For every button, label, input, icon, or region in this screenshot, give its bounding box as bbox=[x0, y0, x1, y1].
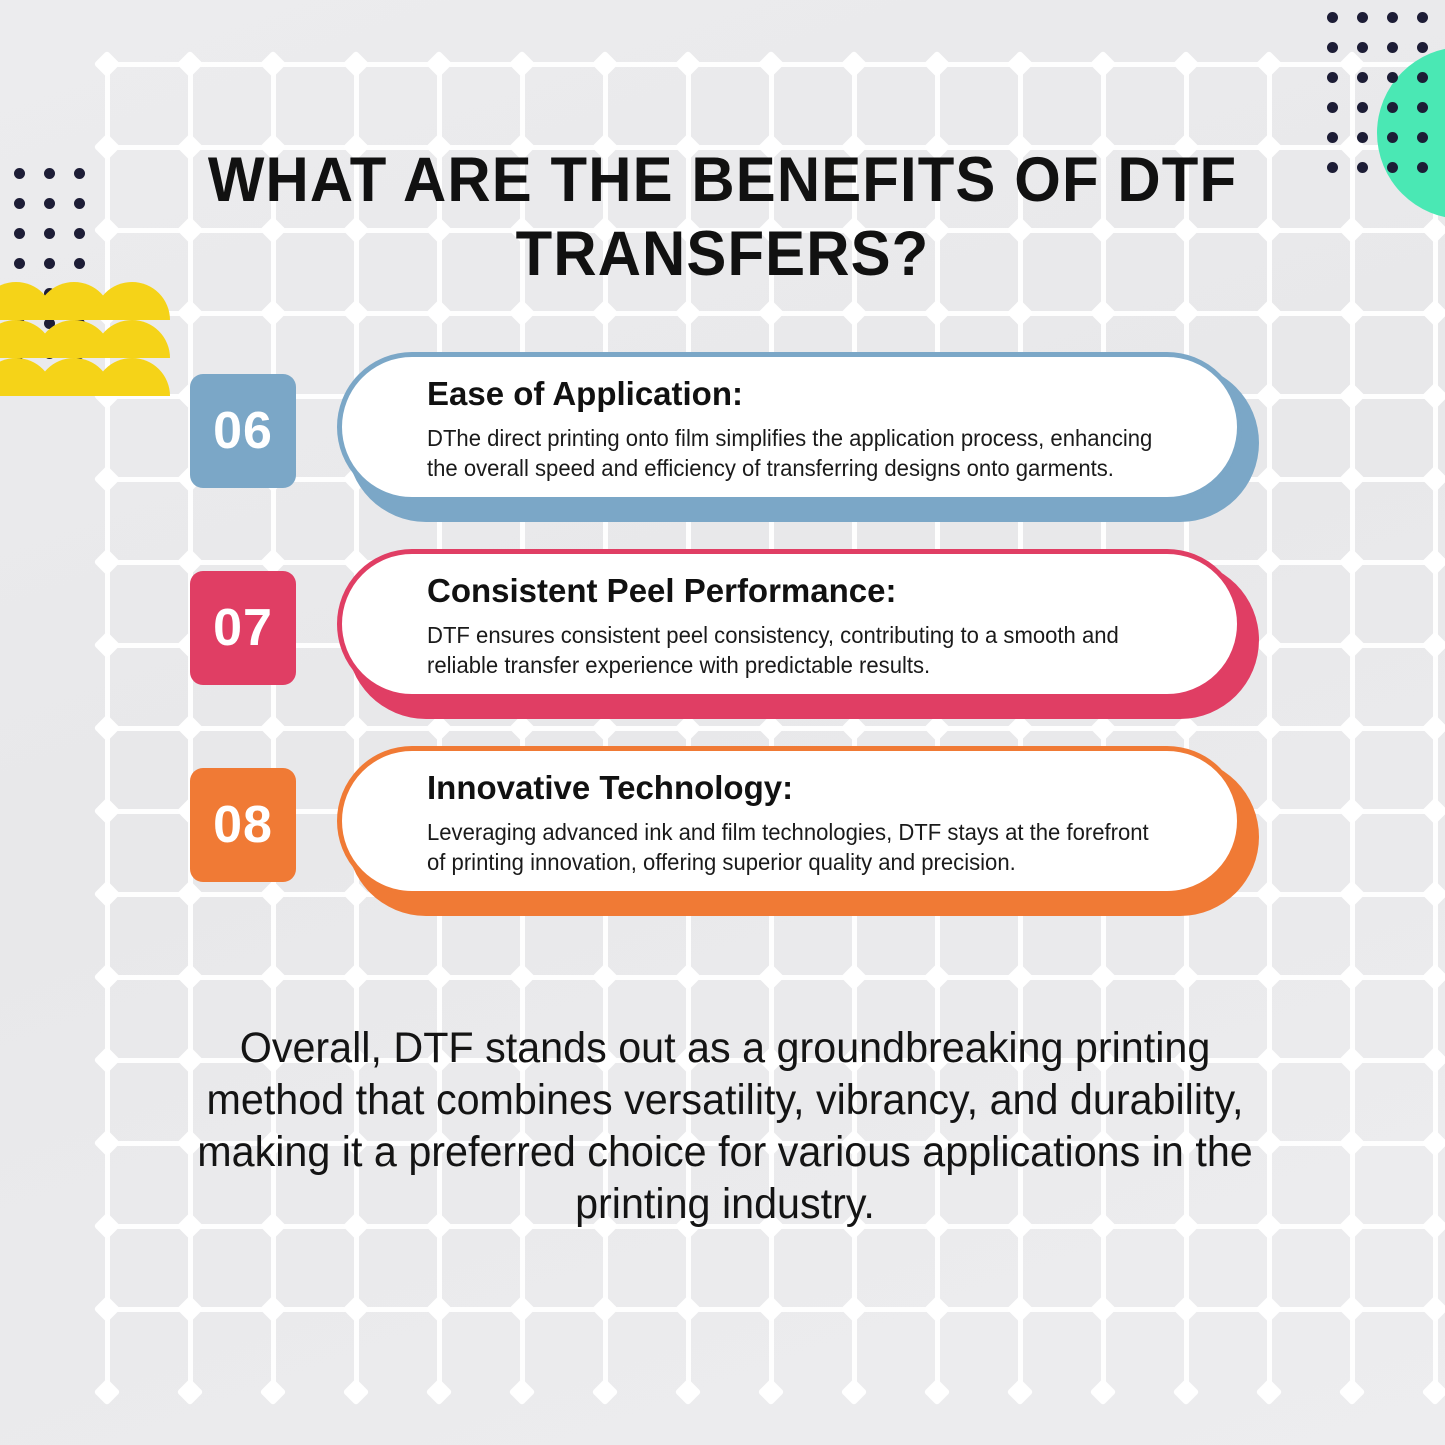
card-number-badge: 07 bbox=[190, 571, 296, 685]
benefit-card: 07Consistent Peel Performance:DTF ensure… bbox=[190, 549, 1260, 709]
card-number-label: 06 bbox=[213, 401, 273, 461]
decorative-dot bbox=[1327, 162, 1338, 173]
grid-intersection-diamond bbox=[758, 964, 785, 991]
yellow-semicircle-decoration bbox=[0, 282, 153, 392]
grid-intersection-diamond bbox=[94, 632, 121, 659]
grid-intersection-diamond bbox=[592, 51, 619, 78]
card-body-text: DTF ensures consistent peel consistency,… bbox=[427, 620, 1172, 680]
grid-intersection-diamond bbox=[1422, 217, 1445, 244]
grid-intersection-diamond bbox=[94, 964, 121, 991]
grid-intersection-diamond bbox=[1339, 217, 1366, 244]
grid-intersection-diamond bbox=[1339, 1379, 1366, 1406]
grid-intersection-diamond bbox=[1339, 632, 1366, 659]
card-number-badge: 08 bbox=[190, 768, 296, 882]
grid-intersection-diamond bbox=[94, 1296, 121, 1323]
decorative-dot bbox=[14, 228, 25, 239]
grid-intersection-diamond bbox=[1422, 300, 1445, 327]
card-heading: Ease of Application: bbox=[427, 374, 1203, 414]
grid-intersection-diamond bbox=[94, 1379, 121, 1406]
infographic-poster: WHAT ARE THE BENEFITS OF DTF TRANSFERS? … bbox=[0, 0, 1445, 1445]
grid-intersection-diamond bbox=[343, 1296, 370, 1323]
grid-intersection-diamond bbox=[1339, 964, 1366, 991]
grid-intersection-diamond bbox=[509, 1379, 536, 1406]
decorative-dot bbox=[1357, 12, 1368, 23]
benefit-card: 08Innovative Technology:Leveraging advan… bbox=[190, 746, 1260, 906]
grid-intersection-diamond bbox=[260, 715, 287, 742]
grid-intersection-diamond bbox=[1256, 300, 1283, 327]
grid-intersection-diamond bbox=[1173, 1379, 1200, 1406]
grid-intersection-diamond bbox=[1422, 1379, 1445, 1406]
grid-intersection-diamond bbox=[1256, 1379, 1283, 1406]
grid-intersection-diamond bbox=[1339, 1047, 1366, 1074]
card-heading: Innovative Technology: bbox=[427, 768, 1203, 808]
grid-intersection-diamond bbox=[592, 1379, 619, 1406]
grid-intersection-diamond bbox=[260, 1296, 287, 1323]
grid-intersection-diamond bbox=[509, 1296, 536, 1323]
card-body-text: Leveraging advanced ink and film technol… bbox=[427, 817, 1172, 877]
grid-intersection-diamond bbox=[94, 881, 121, 908]
grid-intersection-diamond bbox=[1007, 300, 1034, 327]
decorative-dot bbox=[1387, 72, 1398, 83]
decorative-dot bbox=[14, 258, 25, 269]
grid-intersection-diamond bbox=[1256, 51, 1283, 78]
grid-intersection-diamond bbox=[924, 51, 951, 78]
grid-intersection-diamond bbox=[1090, 964, 1117, 991]
yellow-semicircle bbox=[94, 358, 170, 396]
grid-intersection-diamond bbox=[509, 300, 536, 327]
decorative-dot bbox=[74, 258, 85, 269]
grid-intersection-diamond bbox=[177, 715, 204, 742]
grid-intersection-diamond bbox=[426, 1379, 453, 1406]
grid-intersection-diamond bbox=[94, 1213, 121, 1240]
dot-grid-top-right bbox=[1327, 12, 1445, 192]
grid-intersection-diamond bbox=[94, 798, 121, 825]
decorative-dot bbox=[1417, 162, 1428, 173]
decorative-dot bbox=[1327, 12, 1338, 23]
grid-intersection-diamond bbox=[343, 964, 370, 991]
grid-intersection-diamond bbox=[1090, 300, 1117, 327]
grid-intersection-diamond bbox=[1422, 466, 1445, 493]
grid-intersection-diamond bbox=[1339, 1213, 1366, 1240]
grid-intersection-diamond bbox=[1422, 1296, 1445, 1323]
grid-intersection-diamond bbox=[1339, 1296, 1366, 1323]
decorative-dot bbox=[1417, 42, 1428, 53]
grid-intersection-diamond bbox=[1422, 798, 1445, 825]
grid-intersection-diamond bbox=[1090, 51, 1117, 78]
grid-intersection-diamond bbox=[1090, 1296, 1117, 1323]
grid-intersection-diamond bbox=[1090, 1379, 1117, 1406]
grid-intersection-diamond bbox=[924, 300, 951, 327]
grid-intersection-diamond bbox=[841, 51, 868, 78]
grid-intersection-diamond bbox=[1339, 300, 1366, 327]
decorative-dot bbox=[1357, 72, 1368, 83]
grid-intersection-diamond bbox=[94, 1047, 121, 1074]
grid-intersection-diamond bbox=[1422, 632, 1445, 659]
decorative-dot bbox=[1387, 132, 1398, 143]
grid-intersection-diamond bbox=[343, 51, 370, 78]
decorative-dot bbox=[1387, 102, 1398, 113]
grid-intersection-diamond bbox=[841, 1379, 868, 1406]
grid-intersection-diamond bbox=[1422, 1213, 1445, 1240]
grid-intersection-diamond bbox=[343, 715, 370, 742]
decorative-dot bbox=[74, 228, 85, 239]
grid-intersection-diamond bbox=[1173, 1296, 1200, 1323]
card-content: Ease of Application:DThe direct printing… bbox=[427, 374, 1203, 483]
grid-intersection-diamond bbox=[1422, 1047, 1445, 1074]
grid-intersection-diamond bbox=[1422, 964, 1445, 991]
grid-intersection-diamond bbox=[94, 715, 121, 742]
grid-intersection-diamond bbox=[426, 1296, 453, 1323]
grid-intersection-diamond bbox=[1256, 1213, 1283, 1240]
grid-intersection-diamond bbox=[260, 1379, 287, 1406]
grid-intersection-diamond bbox=[426, 51, 453, 78]
grid-intersection-diamond bbox=[94, 466, 121, 493]
grid-intersection-diamond bbox=[94, 1130, 121, 1157]
grid-intersection-diamond bbox=[426, 964, 453, 991]
decorative-dot bbox=[44, 168, 55, 179]
grid-intersection-diamond bbox=[1339, 715, 1366, 742]
card-content: Consistent Peel Performance:DTF ensures … bbox=[427, 571, 1203, 680]
decorative-dot bbox=[1357, 162, 1368, 173]
grid-intersection-diamond bbox=[1422, 881, 1445, 908]
grid-intersection-diamond bbox=[758, 1296, 785, 1323]
grid-intersection-diamond bbox=[1173, 300, 1200, 327]
grid-intersection-diamond bbox=[758, 51, 785, 78]
grid-intersection-diamond bbox=[1339, 466, 1366, 493]
grid-intersection-diamond bbox=[592, 300, 619, 327]
summary-paragraph: Overall, DTF stands out as a groundbreak… bbox=[197, 1022, 1253, 1230]
grid-intersection-diamond bbox=[1007, 1296, 1034, 1323]
page-title: WHAT ARE THE BENEFITS OF DTF TRANSFERS? bbox=[179, 143, 1267, 291]
grid-intersection-diamond bbox=[1007, 1379, 1034, 1406]
grid-intersection-diamond bbox=[924, 964, 951, 991]
grid-intersection-diamond bbox=[1422, 715, 1445, 742]
grid-intersection-diamond bbox=[924, 1296, 951, 1323]
grid-intersection-diamond bbox=[1256, 715, 1283, 742]
grid-intersection-diamond bbox=[1007, 964, 1034, 991]
grid-intersection-diamond bbox=[1256, 1130, 1283, 1157]
grid-intersection-diamond bbox=[1173, 964, 1200, 991]
grid-intersection-diamond bbox=[1256, 964, 1283, 991]
grid-intersection-diamond bbox=[177, 300, 204, 327]
grid-intersection-diamond bbox=[758, 1379, 785, 1406]
grid-intersection-diamond bbox=[260, 300, 287, 327]
decorative-dot bbox=[1417, 72, 1428, 83]
decorative-dot bbox=[1327, 132, 1338, 143]
grid-intersection-diamond bbox=[1007, 51, 1034, 78]
decorative-dot bbox=[1357, 102, 1368, 113]
decorative-dot bbox=[14, 198, 25, 209]
grid-intersection-diamond bbox=[592, 964, 619, 991]
decorative-dot bbox=[1327, 72, 1338, 83]
grid-intersection-diamond bbox=[924, 1379, 951, 1406]
grid-intersection-diamond bbox=[675, 300, 702, 327]
grid-intersection-diamond bbox=[841, 1296, 868, 1323]
card-surface: Innovative Technology:Leveraging advance… bbox=[337, 746, 1242, 896]
grid-intersection-diamond bbox=[592, 1296, 619, 1323]
grid-intersection-diamond bbox=[675, 1379, 702, 1406]
grid-intersection-diamond bbox=[1256, 1296, 1283, 1323]
card-heading: Consistent Peel Performance: bbox=[427, 571, 1203, 611]
grid-intersection-diamond bbox=[841, 964, 868, 991]
grid-intersection-diamond bbox=[509, 51, 536, 78]
decorative-dot bbox=[74, 198, 85, 209]
decorative-dot bbox=[1387, 162, 1398, 173]
grid-intersection-diamond bbox=[1339, 881, 1366, 908]
grid-intersection-diamond bbox=[260, 51, 287, 78]
decorative-dot bbox=[44, 228, 55, 239]
grid-intersection-diamond bbox=[841, 300, 868, 327]
grid-intersection-diamond bbox=[94, 51, 121, 78]
decorative-dot bbox=[1357, 132, 1368, 143]
grid-intersection-diamond bbox=[675, 1296, 702, 1323]
card-surface: Ease of Application:DThe direct printing… bbox=[337, 352, 1242, 502]
benefit-card: 06Ease of Application:DThe direct printi… bbox=[190, 352, 1260, 512]
decorative-dot bbox=[1387, 12, 1398, 23]
grid-intersection-diamond bbox=[675, 964, 702, 991]
decorative-dot bbox=[1417, 102, 1428, 113]
card-surface: Consistent Peel Performance:DTF ensures … bbox=[337, 549, 1242, 699]
grid-intersection-diamond bbox=[94, 134, 121, 161]
grid-intersection-diamond bbox=[343, 1379, 370, 1406]
grid-intersection-diamond bbox=[343, 300, 370, 327]
grid-intersection-diamond bbox=[675, 51, 702, 78]
card-number-badge: 06 bbox=[190, 374, 296, 488]
grid-intersection-diamond bbox=[260, 964, 287, 991]
grid-intersection-diamond bbox=[1422, 1130, 1445, 1157]
decorative-dot bbox=[1387, 42, 1398, 53]
decorative-dot bbox=[14, 168, 25, 179]
grid-intersection-diamond bbox=[177, 964, 204, 991]
grid-intersection-diamond bbox=[177, 1296, 204, 1323]
grid-intersection-diamond bbox=[1339, 1130, 1366, 1157]
decorative-dot bbox=[1357, 42, 1368, 53]
grid-intersection-diamond bbox=[758, 300, 785, 327]
decorative-dot bbox=[44, 258, 55, 269]
card-content: Innovative Technology:Leveraging advance… bbox=[427, 768, 1203, 877]
decorative-dot bbox=[74, 168, 85, 179]
card-number-label: 08 bbox=[213, 795, 273, 855]
grid-intersection-diamond bbox=[177, 1379, 204, 1406]
card-number-label: 07 bbox=[213, 598, 273, 658]
grid-intersection-diamond bbox=[1339, 549, 1366, 576]
decorative-dot bbox=[1327, 102, 1338, 113]
grid-intersection-diamond bbox=[1422, 549, 1445, 576]
grid-intersection-diamond bbox=[1339, 798, 1366, 825]
yellow-semicircle bbox=[94, 282, 170, 320]
grid-intersection-diamond bbox=[1173, 51, 1200, 78]
decorative-dot bbox=[1327, 42, 1338, 53]
grid-intersection-diamond bbox=[1339, 383, 1366, 410]
grid-intersection-diamond bbox=[177, 51, 204, 78]
grid-intersection-diamond bbox=[1256, 1047, 1283, 1074]
decorative-dot bbox=[1417, 12, 1428, 23]
yellow-semicircle bbox=[94, 320, 170, 358]
decorative-dot bbox=[1417, 132, 1428, 143]
grid-intersection-diamond bbox=[1422, 383, 1445, 410]
grid-intersection-diamond bbox=[509, 964, 536, 991]
card-body-text: DThe direct printing onto film simplifie… bbox=[427, 423, 1172, 483]
grid-intersection-diamond bbox=[94, 549, 121, 576]
grid-intersection-diamond bbox=[426, 300, 453, 327]
decorative-dot bbox=[44, 198, 55, 209]
